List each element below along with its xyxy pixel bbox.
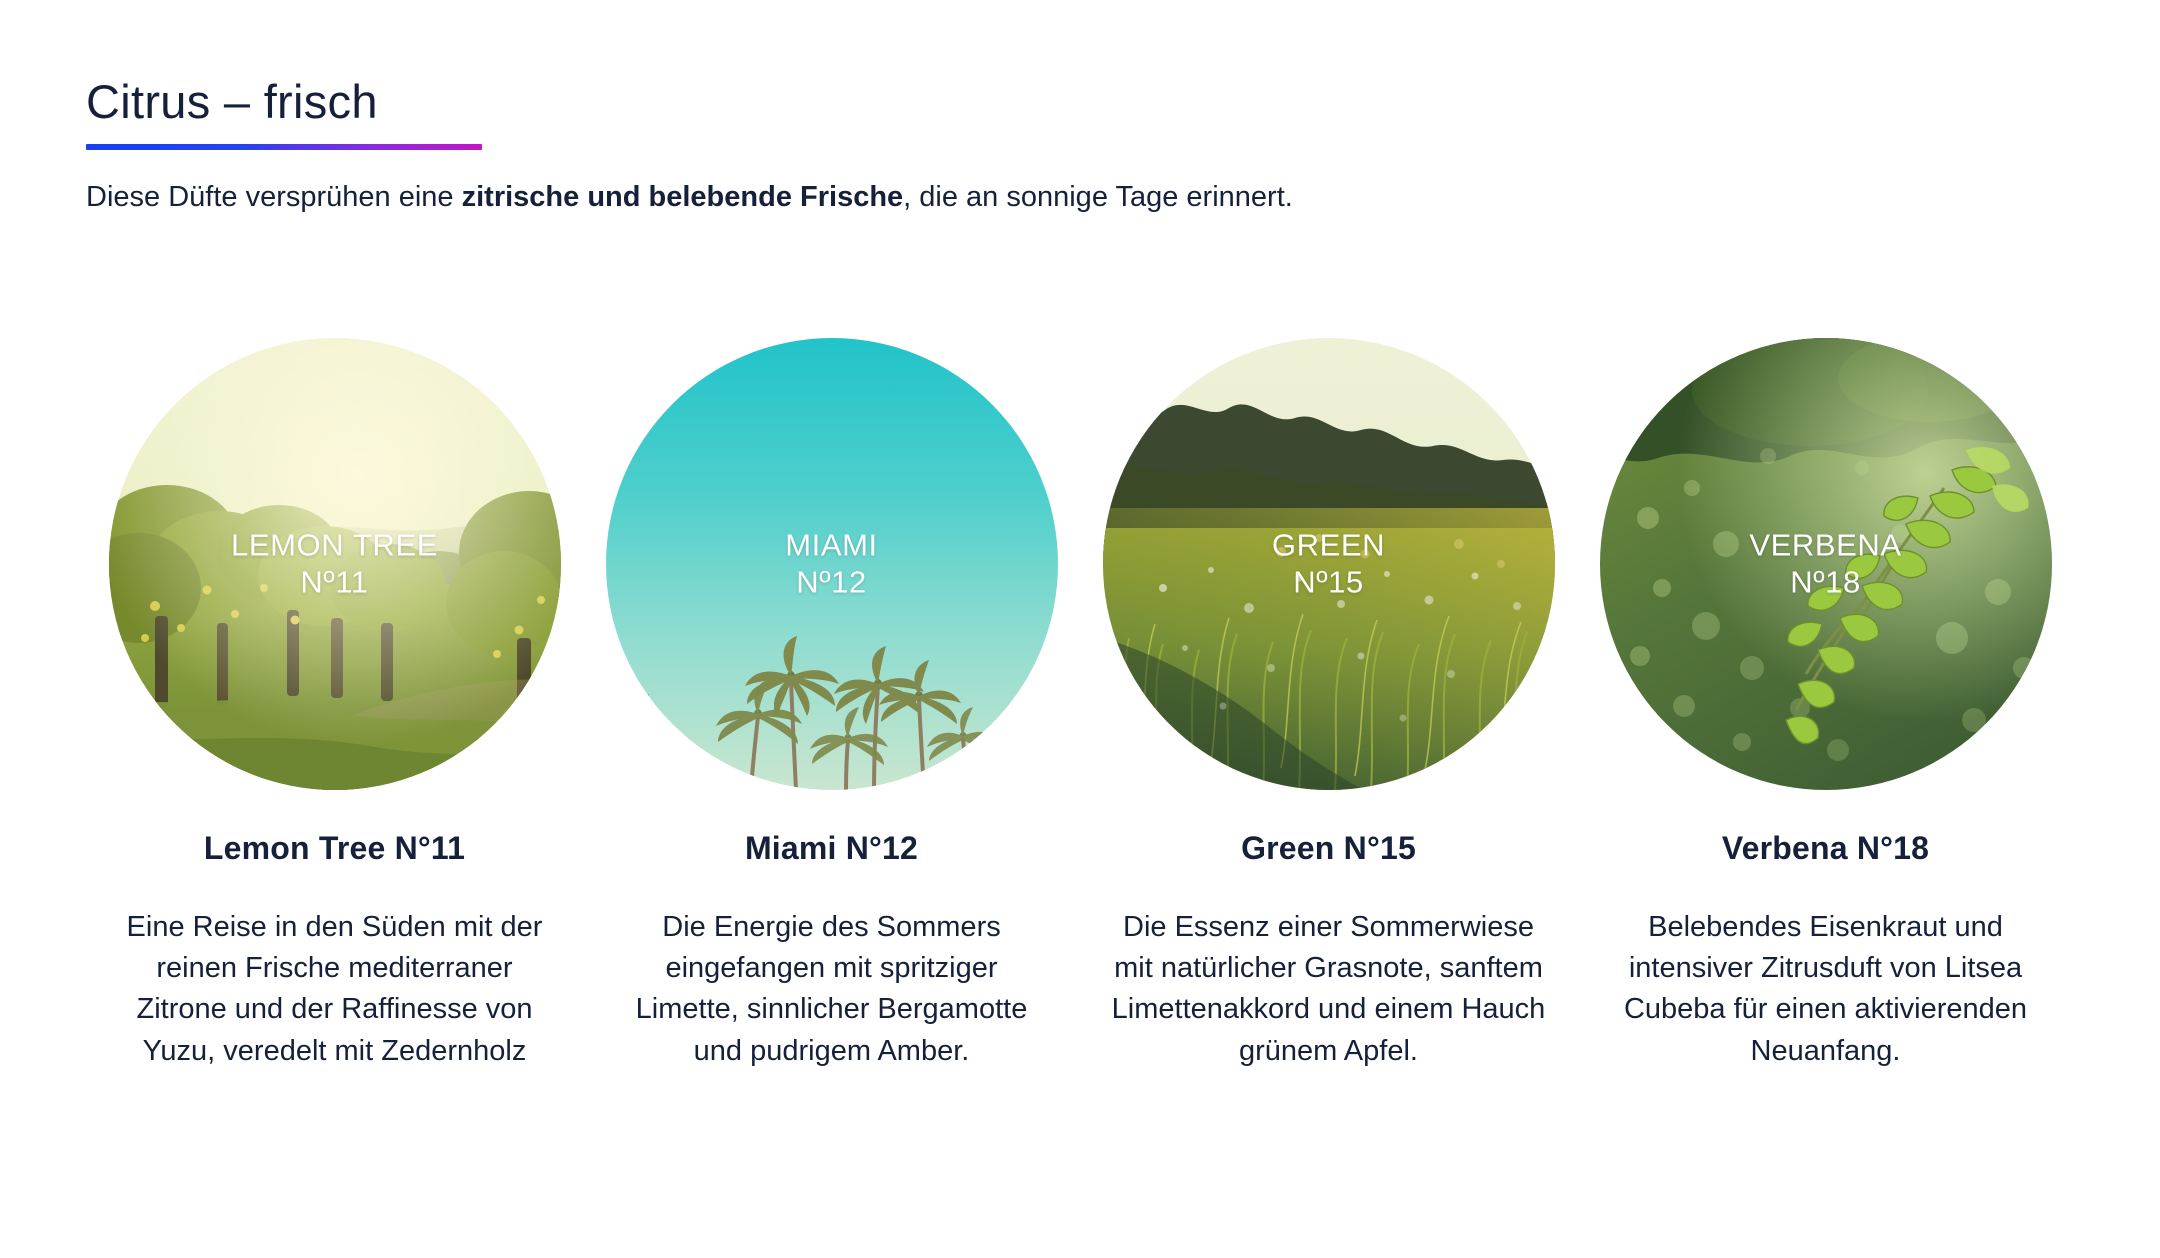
page-title: Citrus – frisch (86, 76, 1986, 128)
card-description: Eine Reise in den Süden mit der reinen F… (115, 907, 555, 1072)
card-title: Green N°15 (1241, 830, 1416, 867)
fragrance-card-miami[interactable]: MIAMI Nº12 Miami N°12 Die Energie des So… (583, 338, 1080, 1072)
page-subtitle: Diese Düfte versprühen eine zitrische un… (86, 178, 1986, 217)
card-description: Die Energie des Sommers eingefangen mit … (612, 907, 1052, 1072)
circle-image-wrapper[interactable]: LEMON TREE Nº11 (109, 338, 561, 790)
green-leaves-bokeh-photo (1600, 338, 2052, 790)
card-title: Miami N°12 (745, 830, 918, 867)
fragrance-card-green[interactable]: GREEN Nº15 Green N°15 Die Essenz einer S… (1080, 338, 1577, 1072)
palm-trees-turquoise-sky-photo (606, 338, 1058, 790)
fragrance-card-verbena[interactable]: VERBENA Nº18 Verbena N°18 Belebendes Eis… (1577, 338, 2074, 1072)
card-title: Verbena N°18 (1722, 830, 1929, 867)
subtitle-text-after: , die an sonnige Tage erinnert. (903, 181, 1293, 213)
circle-image-wrapper[interactable]: VERBENA Nº18 (1600, 338, 2052, 790)
circle-image-wrapper[interactable]: GREEN Nº15 (1103, 338, 1555, 790)
fragrance-card-lemon-tree[interactable]: LEMON TREE Nº11 Lemon Tree N°11 Eine Rei… (86, 338, 583, 1072)
subtitle-text-bold: zitrische und belebende Frische (462, 181, 904, 213)
dewy-meadow-grass-photo (1103, 338, 1555, 790)
fragrance-card-grid: LEMON TREE Nº11 Lemon Tree N°11 Eine Rei… (86, 338, 2076, 1072)
circle-image-wrapper[interactable]: MIAMI Nº12 (606, 338, 1058, 790)
title-gradient-rule (86, 144, 482, 150)
card-description: Die Essenz einer Sommerwiese mit natürli… (1109, 907, 1549, 1072)
subtitle-text-before: Diese Düfte versprühen eine (86, 181, 462, 213)
card-title: Lemon Tree N°11 (204, 830, 465, 867)
card-description: Belebendes Eisenkraut und intensiver Zit… (1606, 907, 2046, 1072)
lemon-orchard-photo (109, 338, 561, 790)
page-header: Citrus – frisch Diese Düfte versprühen e… (86, 76, 1986, 217)
